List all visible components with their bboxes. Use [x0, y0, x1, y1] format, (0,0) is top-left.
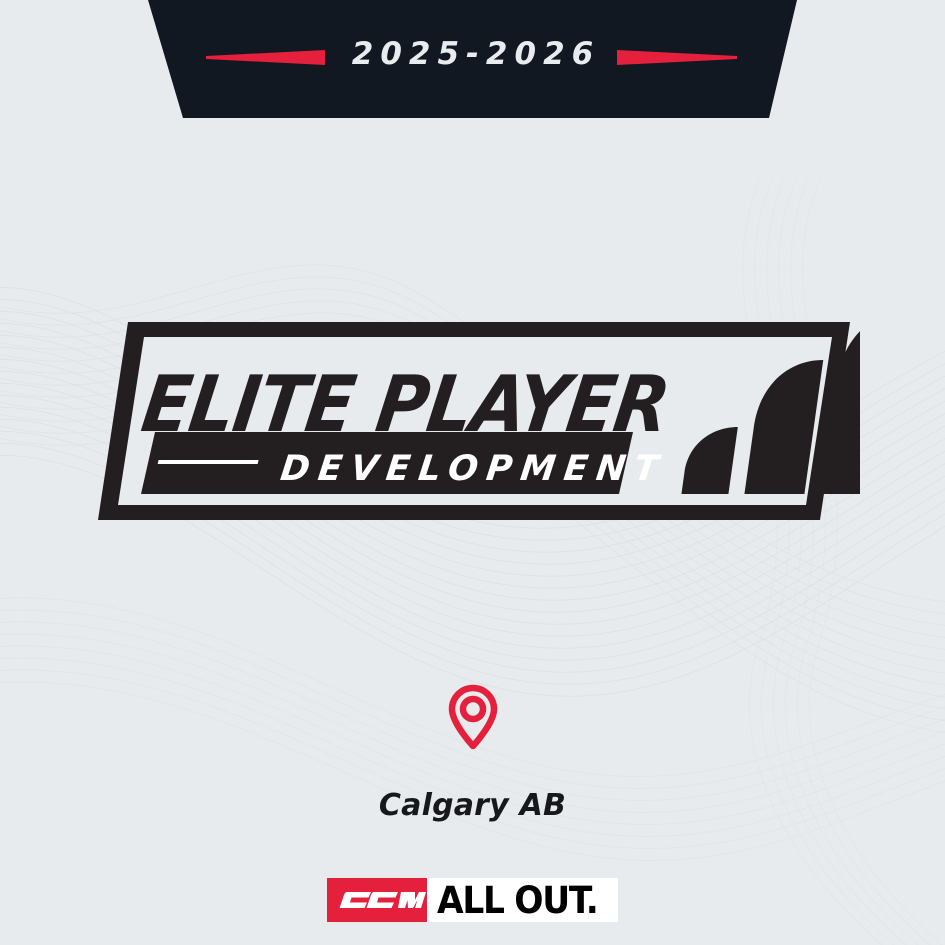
- map-pin-icon: [445, 682, 501, 754]
- poster-canvas: 2025-2026 ELITE PLAYER DEVELOPMENT: [0, 0, 945, 945]
- season-label: 2025-2026: [0, 36, 945, 72]
- location-block: [0, 678, 945, 758]
- season-banner: 2025-2026: [0, 0, 945, 126]
- logo-band-rule: [158, 460, 259, 464]
- logo-secondary-text: DEVELOPMENT: [278, 448, 669, 489]
- city-label-container: Calgary AB: [0, 788, 945, 823]
- ccm-wordmark: [327, 878, 427, 922]
- logo-secondary-band: DEVELOPMENT: [141, 432, 669, 494]
- sponsor-lockup-container: ALL OUT.: [0, 878, 945, 922]
- ccm-logo-mark: [327, 878, 427, 922]
- all-out-tagline: ALL OUT.: [437, 882, 598, 919]
- logo-artwork: ELITE PLAYER DEVELOPMENT: [88, 312, 860, 530]
- elite-player-development-logo: ELITE PLAYER DEVELOPMENT: [88, 312, 860, 530]
- sponsor-lockup: ALL OUT.: [327, 878, 618, 922]
- all-out-tagline-container: ALL OUT.: [427, 878, 618, 922]
- city-label: Calgary AB: [379, 788, 566, 823]
